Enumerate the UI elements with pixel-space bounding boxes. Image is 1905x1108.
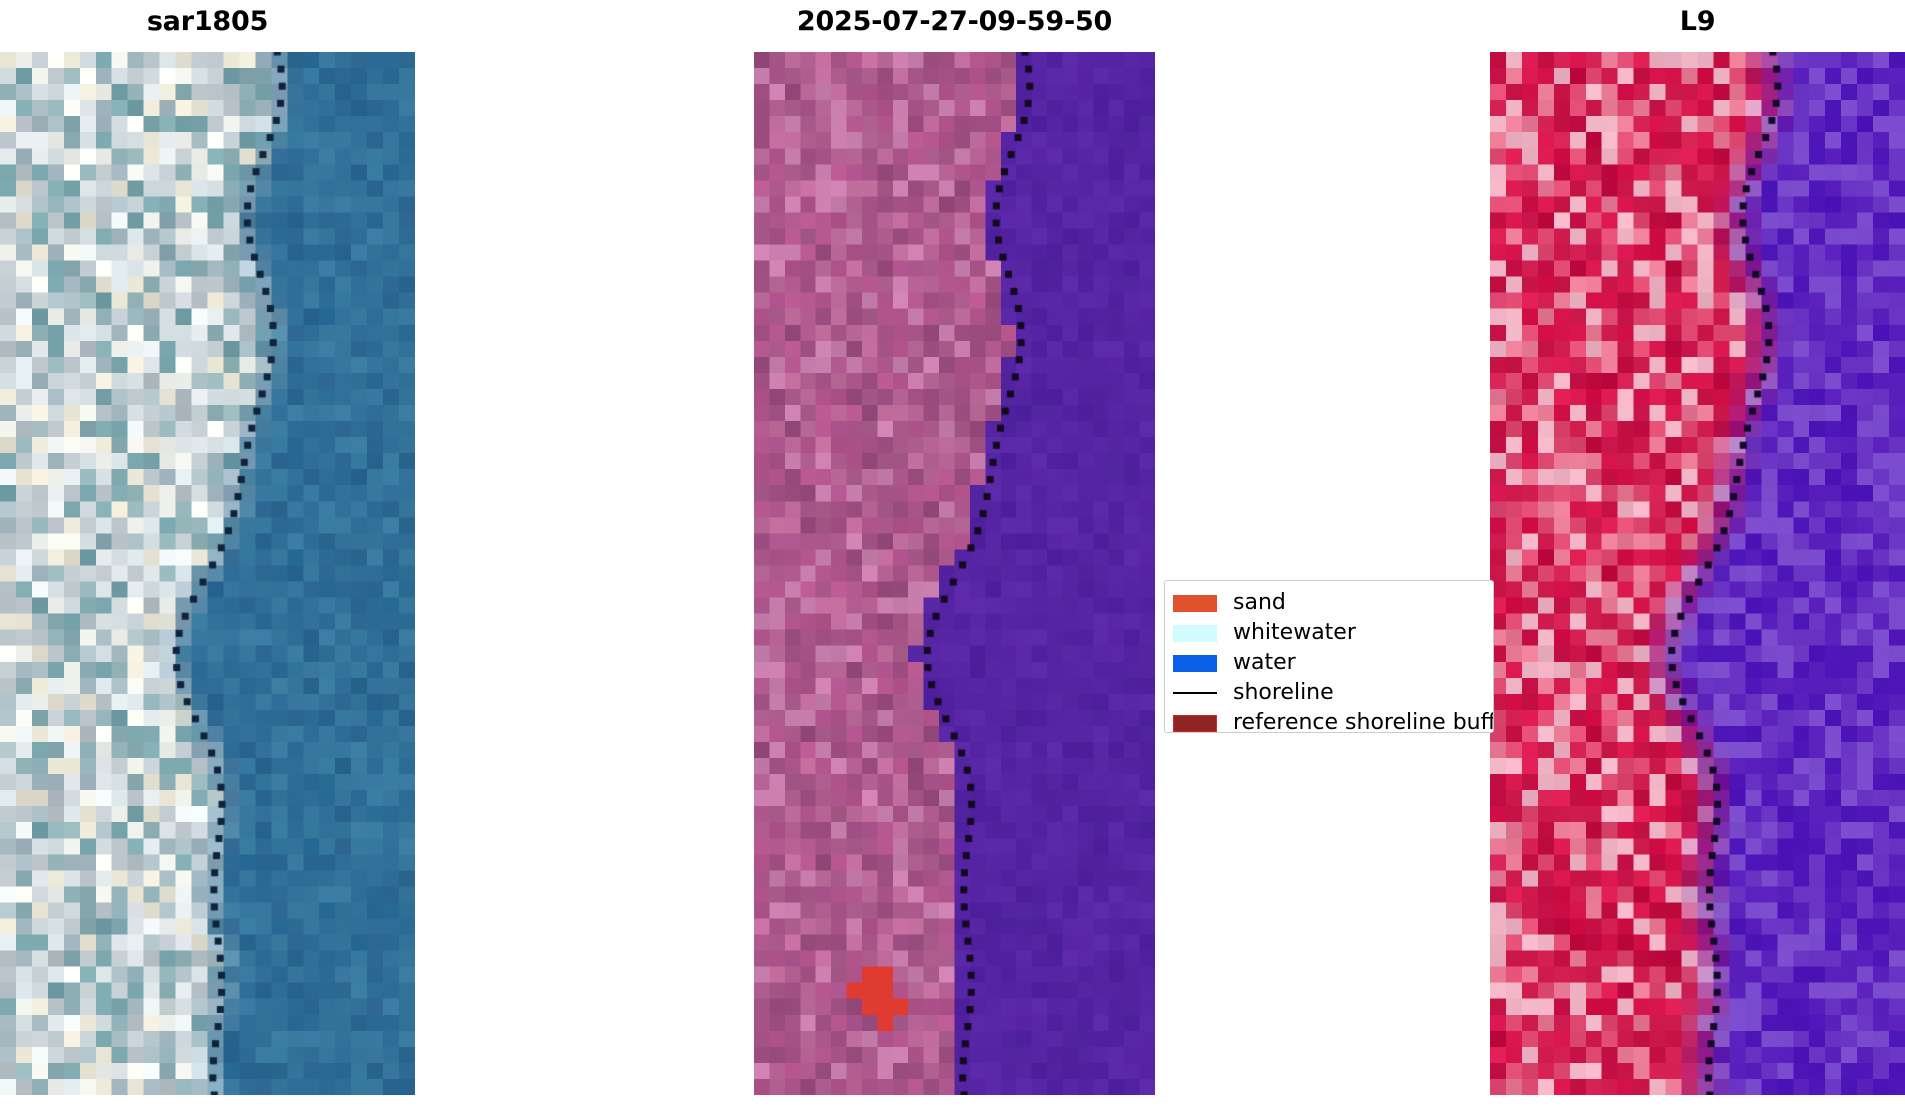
legend-swatch-sand-icon — [1173, 595, 1217, 612]
shoreline-overlay — [0, 52, 415, 1095]
legend-swatch-whitewater-icon — [1173, 625, 1217, 642]
legend-item-reference: reference shoreline buffer — [1173, 708, 1485, 733]
legend-label: reference shoreline buffer — [1233, 712, 1494, 733]
panel-title-l9: L9 — [1490, 6, 1905, 37]
legend-label: shoreline — [1233, 682, 1334, 704]
legend-label: water — [1233, 652, 1296, 674]
legend-swatch-water-icon — [1173, 655, 1217, 672]
legend-swatch-wrap — [1173, 655, 1225, 672]
legend-swatch-wrap — [1173, 715, 1225, 732]
legend-item-shoreline: shoreline — [1173, 678, 1485, 708]
figure-canvas: sar1805 2025-07-27-09-59-50 L9 sandwhite… — [0, 0, 1905, 1108]
panel-title-sar1805: sar1805 — [0, 6, 415, 37]
image-panel-index[interactable] — [1490, 52, 1905, 1095]
legend-swatch-wrap — [1173, 692, 1225, 694]
shoreline-overlay — [1490, 52, 1905, 1095]
image-panel-classified[interactable] — [754, 52, 1155, 1095]
legend-swatch-wrap — [1173, 625, 1225, 642]
legend-item-whitewater: whitewater — [1173, 618, 1485, 648]
legend-box[interactable]: sandwhitewaterwatershorelinereference sh… — [1164, 580, 1494, 733]
shoreline-overlay — [754, 52, 1155, 1095]
panel-title-timestamp: 2025-07-27-09-59-50 — [754, 6, 1155, 37]
legend-swatch-shoreline-icon — [1173, 692, 1217, 694]
legend-swatch-wrap — [1173, 595, 1225, 612]
legend-label: sand — [1233, 592, 1286, 614]
legend-swatch-reference-icon — [1173, 715, 1217, 732]
image-panel-rgb[interactable] — [0, 52, 415, 1095]
legend-item-water: water — [1173, 648, 1485, 678]
legend-item-sand: sand — [1173, 588, 1485, 618]
legend-label: whitewater — [1233, 622, 1356, 644]
